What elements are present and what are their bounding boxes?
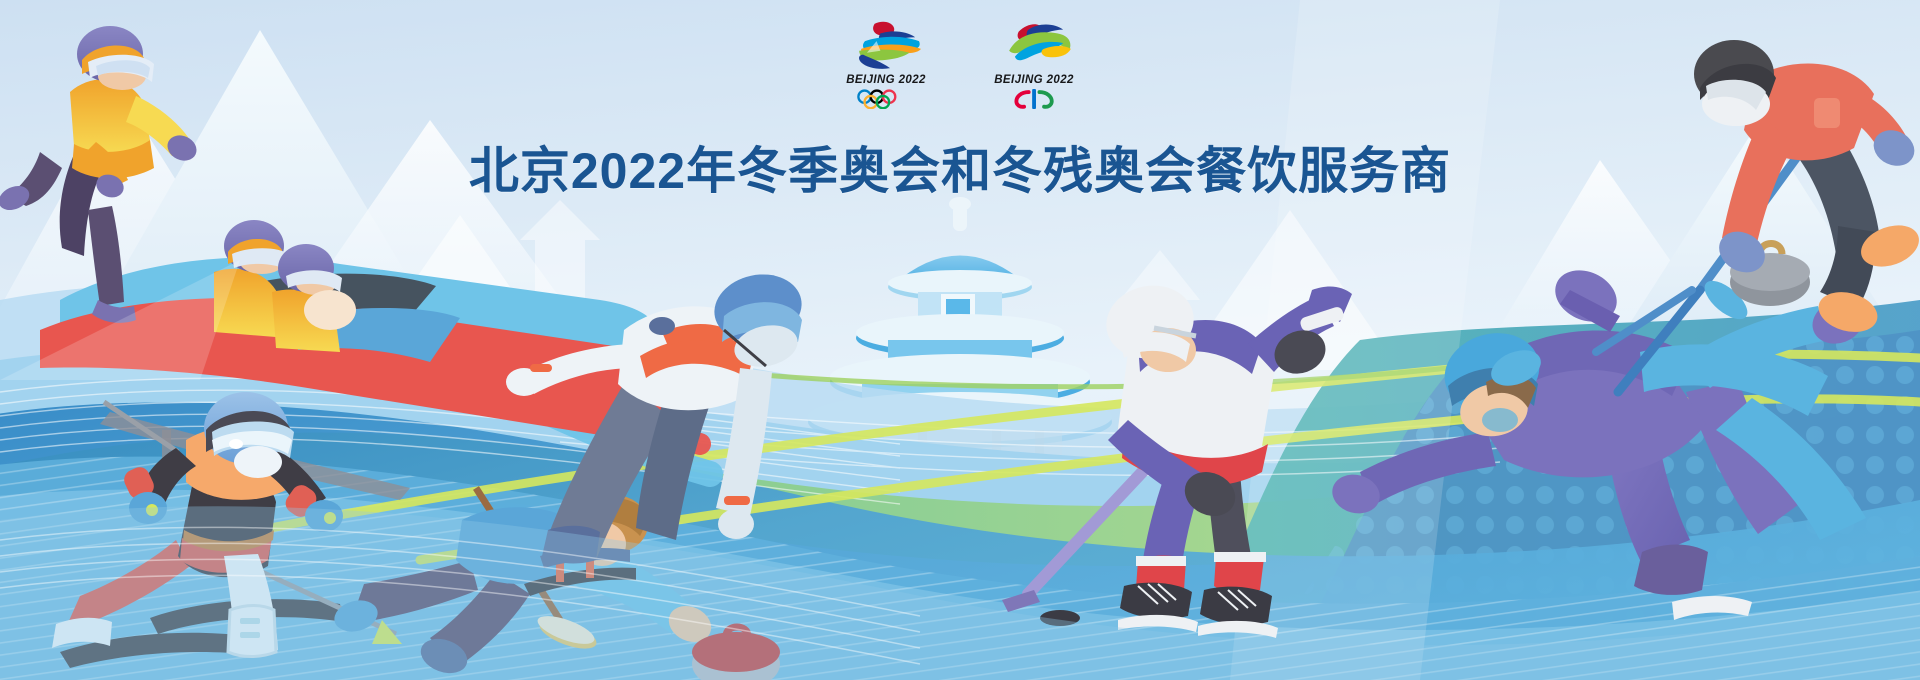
flying-emblem-icon (986, 18, 1082, 72)
page-title: 北京2022年冬季奥会和冬残奥会餐饮服务商 (469, 131, 1451, 203)
beijing-2022-olympic-emblem[interactable]: BEIJING 2022 (836, 18, 936, 109)
winter-dream-emblem-icon (838, 18, 934, 72)
agitos-icon (1001, 89, 1067, 109)
olympic-banner: BEIJING 2022 (0, 0, 1920, 680)
beijing-2022-paralympic-emblem[interactable]: BEIJING 2022 (984, 18, 1084, 109)
olympic-rings-icon (853, 89, 919, 109)
paralympic-wordmark: BEIJING 2022 (994, 74, 1074, 86)
olympic-wordmark: BEIJING 2022 (846, 74, 926, 86)
emblem-row: BEIJING 2022 (836, 18, 1084, 109)
